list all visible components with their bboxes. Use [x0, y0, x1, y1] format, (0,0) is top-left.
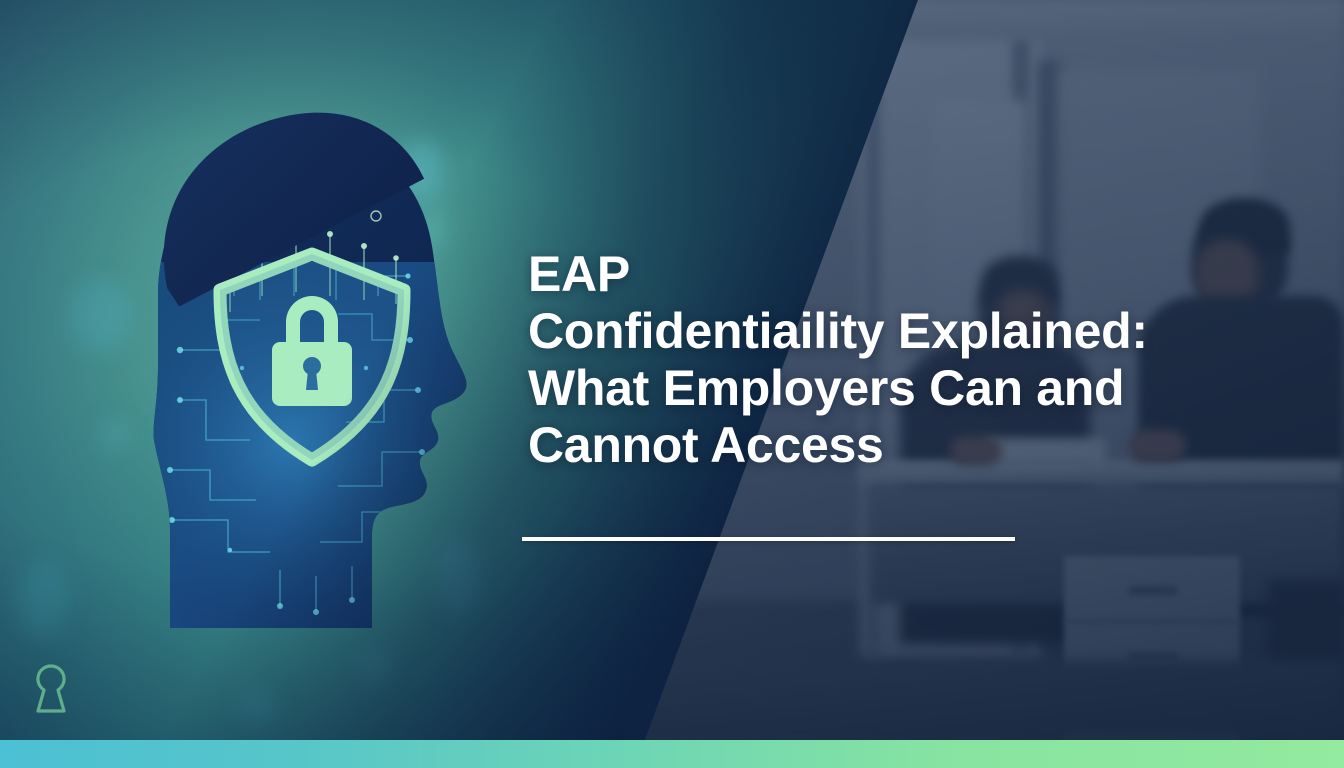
accent-gradient-bar [0, 740, 1344, 768]
title-line-4: Cannot Access [528, 417, 1288, 474]
page-title: EAP Confidentiaility Explained: What Emp… [528, 246, 1288, 474]
title-divider-rule [522, 537, 1015, 541]
keyhole-icon [30, 662, 72, 716]
hero-banner: EAP Confidentiaility Explained: What Emp… [0, 0, 1344, 768]
title-line-2: Confidentiaility Explained: [528, 303, 1288, 360]
title-line-3: What Employers Can and [528, 360, 1288, 417]
title-line-1: EAP [528, 246, 1288, 303]
keyhole-icon-svg [30, 662, 72, 716]
